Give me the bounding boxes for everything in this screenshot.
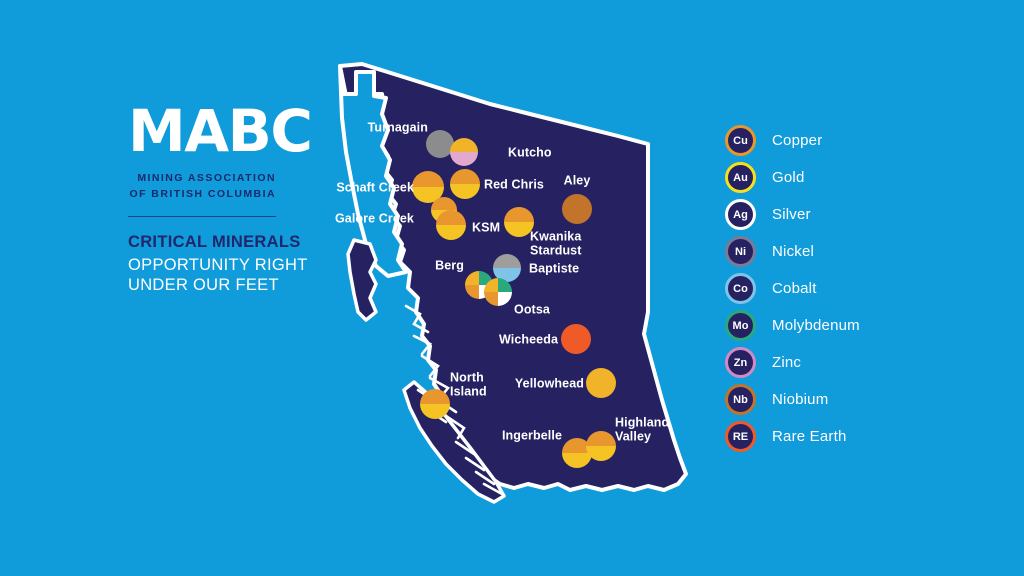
- legend-chip-re-icon: RE: [725, 421, 756, 452]
- legend-item-copper[interactable]: CuCopper: [725, 122, 955, 159]
- legend-label: Zinc: [772, 354, 801, 371]
- site-marker-highland-valley[interactable]: [586, 431, 616, 461]
- legend-item-nickel[interactable]: NiNickel: [725, 233, 955, 270]
- site-label-kwanika-stardust: Kwanika Stardust: [530, 231, 582, 258]
- site-marker-north-island[interactable]: [420, 389, 450, 419]
- site-label-kutcho: Kutcho: [508, 146, 552, 160]
- tagline-line-2: OPPORTUNITY RIGHT: [128, 255, 318, 275]
- site-marker-red-chris[interactable]: [450, 169, 480, 199]
- mabc-logo-subtitle: MINING ASSOCIATION OF BRITISH COLUMBIA: [128, 170, 276, 203]
- british-columbia-map-shape: [318, 44, 728, 534]
- site-label-schaft-creek: Schaft Creek: [336, 181, 414, 195]
- legend-label: Gold: [772, 169, 805, 186]
- site-marker-yellowhead[interactable]: [586, 368, 616, 398]
- site-label-ksm: KSM: [472, 221, 500, 235]
- legend-label: Niobium: [772, 391, 828, 408]
- legend-item-niobium[interactable]: NbNiobium: [725, 381, 955, 418]
- tagline-block: CRITICAL MINERALS OPPORTUNITY RIGHT UNDE…: [128, 232, 318, 295]
- legend-item-zinc[interactable]: ZnZinc: [725, 344, 955, 381]
- legend-chip-ni-icon: Ni: [725, 236, 756, 267]
- legend-chip-nb-icon: Nb: [725, 384, 756, 415]
- legend-chip-au-icon: Au: [725, 162, 756, 193]
- legend-label: Copper: [772, 132, 822, 149]
- legend-item-gold[interactable]: AuGold: [725, 159, 955, 196]
- tagline-line-3: UNDER OUR FEET: [128, 275, 318, 295]
- legend-chip-co-icon: Co: [725, 273, 756, 304]
- site-label-wicheeda: Wicheeda: [499, 333, 558, 347]
- site-marker-aley[interactable]: [562, 194, 592, 224]
- tagline-subhead: OPPORTUNITY RIGHT UNDER OUR FEET: [128, 255, 318, 295]
- brand-divider: [128, 216, 276, 217]
- site-marker-ootsa[interactable]: [484, 278, 512, 306]
- haida-gwaii-path: [348, 240, 376, 320]
- site-label-galore-creek: Galore Creek: [335, 212, 414, 226]
- site-label-aley: Aley: [564, 174, 591, 188]
- legend-label: Rare Earth: [772, 428, 847, 445]
- mineral-legend: CuCopperAuGoldAgSilverNiNickelCoCobaltMo…: [725, 122, 955, 455]
- site-label-red-chris: Red Chris: [484, 178, 544, 192]
- site-label-baptiste: Baptiste: [529, 262, 579, 276]
- poster-canvas: MABC MINING ASSOCIATION OF BRITISH COLUM…: [0, 0, 1024, 576]
- logo-subtitle-line-1: MINING ASSOCIATION: [128, 170, 276, 186]
- legend-item-molybdenum[interactable]: MoMolybdenum: [725, 307, 955, 344]
- legend-chip-mo-icon: Mo: [725, 310, 756, 341]
- legend-chip-zn-icon: Zn: [725, 347, 756, 378]
- site-marker-ksm[interactable]: [436, 210, 466, 240]
- legend-item-silver[interactable]: AgSilver: [725, 196, 955, 233]
- legend-label: Nickel: [772, 243, 814, 260]
- legend-item-cobalt[interactable]: CoCobalt: [725, 270, 955, 307]
- site-label-ootsa: Ootsa: [514, 303, 550, 317]
- bc-map-container: TurnagainKutchoSchaft CreekRed ChrisGalo…: [318, 44, 728, 534]
- legend-item-rare-earth[interactable]: RERare Earth: [725, 418, 955, 455]
- site-label-north-island: North Island: [450, 372, 487, 399]
- site-label-highland-valley: Highland Valley: [615, 417, 669, 444]
- logo-subtitle-line-2: OF BRITISH COLUMBIA: [128, 186, 276, 202]
- legend-label: Molybdenum: [772, 317, 860, 334]
- legend-chip-ag-icon: Ag: [725, 199, 756, 230]
- site-marker-kutcho[interactable]: [450, 138, 478, 166]
- site-label-ingerbelle: Ingerbelle: [502, 429, 562, 443]
- site-label-yellowhead: Yellowhead: [515, 377, 584, 391]
- legend-chip-cu-icon: Cu: [725, 125, 756, 156]
- site-label-berg: Berg: [435, 259, 464, 273]
- legend-label: Silver: [772, 206, 811, 223]
- legend-label: Cobalt: [772, 280, 817, 297]
- site-label-turnagain: Turnagain: [368, 121, 428, 135]
- site-marker-wicheeda[interactable]: [561, 324, 591, 354]
- tagline-headline: CRITICAL MINERALS: [128, 232, 318, 252]
